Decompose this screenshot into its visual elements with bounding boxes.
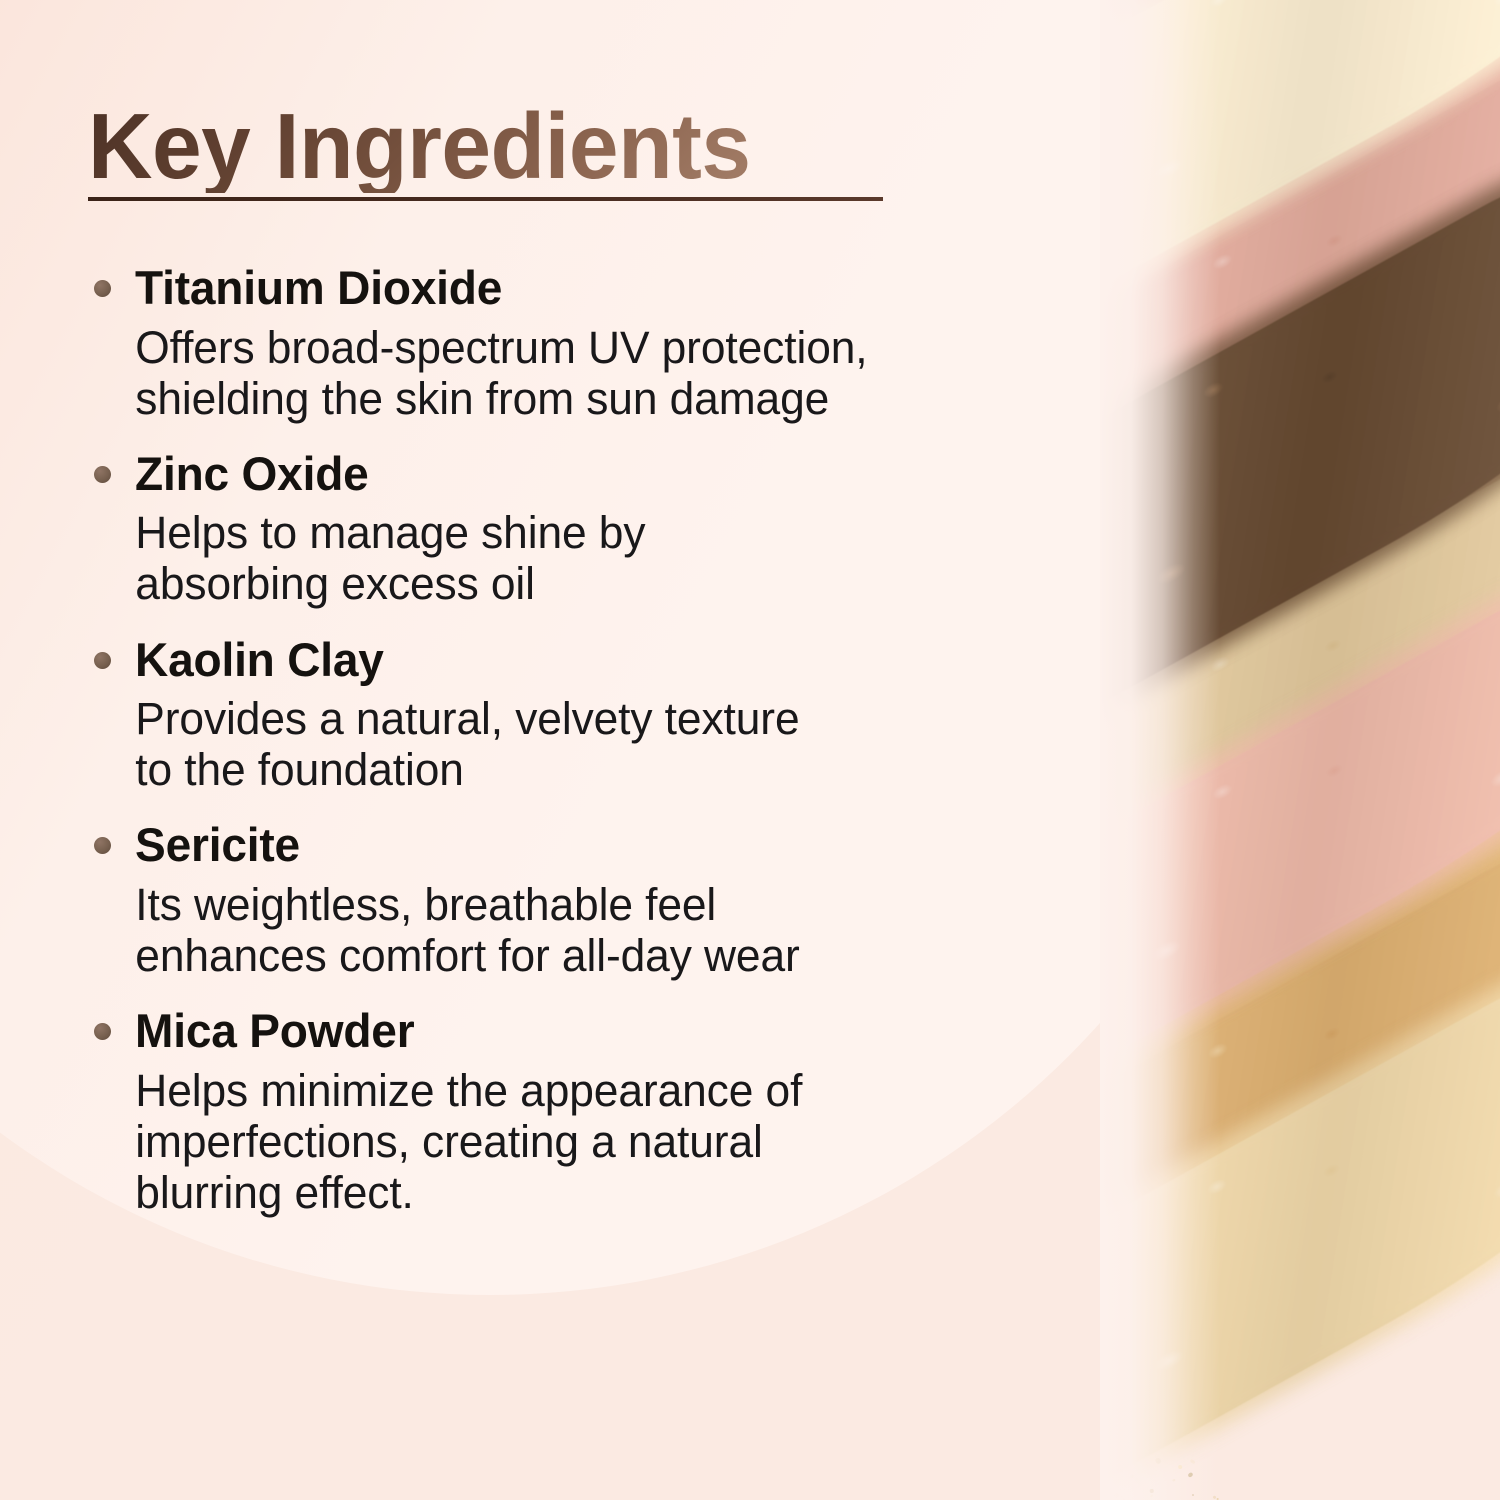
powder-swatch-panel xyxy=(1100,0,1500,1500)
ingredient-description: Helps minimize the appearance ofimperfec… xyxy=(88,1065,953,1218)
ingredient-description-line: Helps minimize the appearance of xyxy=(135,1065,953,1116)
ingredient-item: Titanium DioxideOffers broad-spectrum UV… xyxy=(88,262,968,424)
page-title: Key Ingredients xyxy=(88,100,856,193)
ingredient-description-line: enhances comfort for all-day wear xyxy=(135,930,953,981)
ingredient-list: Titanium DioxideOffers broad-spectrum UV… xyxy=(88,262,968,1218)
ingredient-name: Mica Powder xyxy=(88,1005,950,1058)
ingredient-name: Zinc Oxide xyxy=(88,448,950,501)
page-title-block: Key Ingredients xyxy=(88,100,888,201)
ingredient-description-line: absorbing excess oil xyxy=(135,558,953,609)
content-column: Key Ingredients Titanium DioxideOffers b… xyxy=(0,0,1000,1500)
ingredient-name: Titanium Dioxide xyxy=(88,262,950,315)
ingredient-description: Provides a natural, velvety textureto th… xyxy=(88,693,953,795)
key-ingredients-infographic: Key Ingredients Titanium DioxideOffers b… xyxy=(0,0,1500,1500)
ingredient-description-line: to the foundation xyxy=(135,744,953,795)
ingredient-item: Zinc OxideHelps to manage shine byabsorb… xyxy=(88,448,968,610)
ingredient-description-line: Helps to manage shine by xyxy=(135,507,953,558)
ingredient-description-line: Offers broad-spectrum UV protection, xyxy=(135,322,953,373)
ingredient-name: Sericite xyxy=(88,819,950,872)
ingredient-description-line: Provides a natural, velvety texture xyxy=(135,693,953,744)
ingredient-item: Mica PowderHelps minimize the appearance… xyxy=(88,1005,968,1218)
ingredient-description: Helps to manage shine byabsorbing excess… xyxy=(88,507,953,609)
ingredient-description-line: imperfections, creating a natural xyxy=(135,1116,953,1167)
ingredient-description-line: shielding the skin from sun damage xyxy=(135,373,953,424)
ingredient-name: Kaolin Clay xyxy=(88,634,950,687)
ingredient-item: SericiteIts weightless, breathable feele… xyxy=(88,819,968,981)
ingredient-description-line: Its weightless, breathable feel xyxy=(135,879,953,930)
ingredient-description: Its weightless, breathable feelenhances … xyxy=(88,879,953,981)
powder-edge-fade xyxy=(1100,0,1220,1500)
ingredient-item: Kaolin ClayProvides a natural, velvety t… xyxy=(88,634,968,796)
ingredient-description: Offers broad-spectrum UV protection,shie… xyxy=(88,322,953,424)
ingredient-description-line: blurring effect. xyxy=(135,1167,953,1218)
